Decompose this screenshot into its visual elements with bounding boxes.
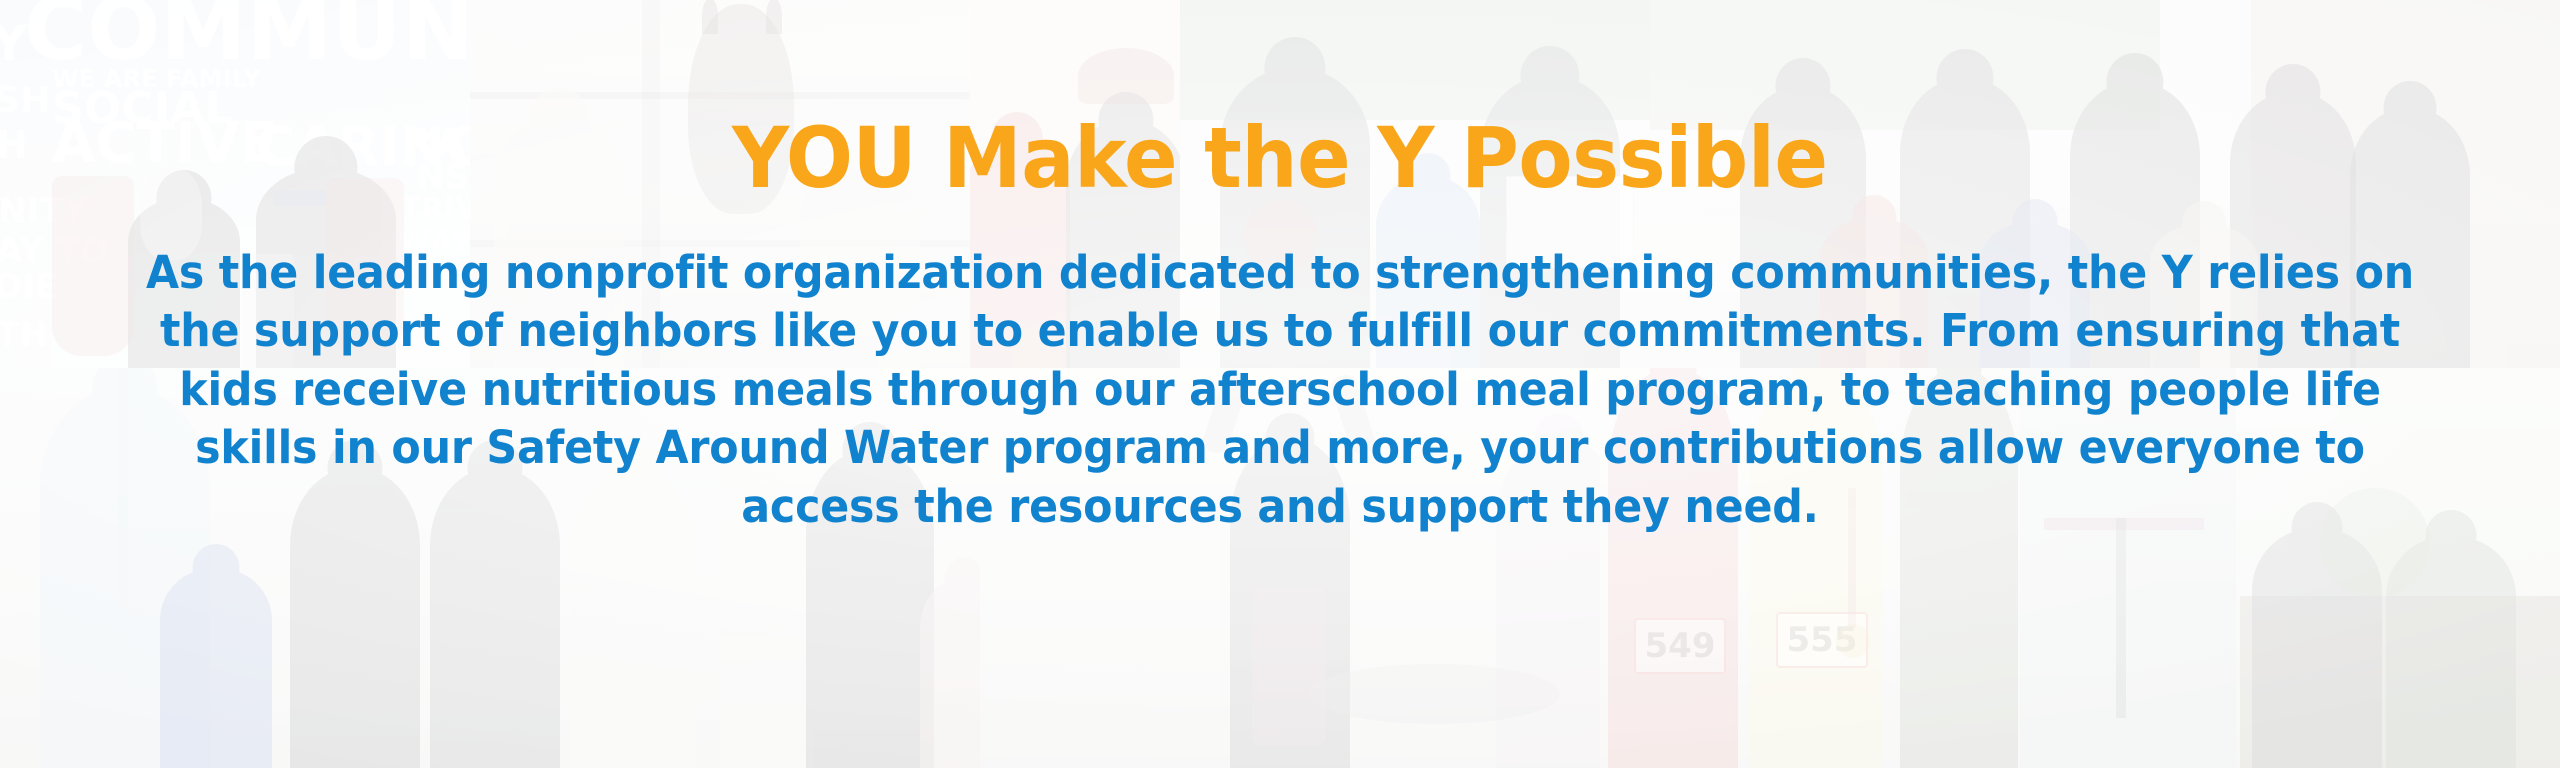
banner-body-text: As the leading nonprofit organization de… xyxy=(126,244,2435,537)
banner-headline: YOU Make the Y Possible xyxy=(732,116,1828,202)
banner-content: YOU Make the Y Possible As the leading n… xyxy=(0,0,2560,768)
ymca-donation-hero-banner: Y COMMUNITY WE ARE FAMILY SH SOCIAL H AC… xyxy=(0,0,2560,768)
